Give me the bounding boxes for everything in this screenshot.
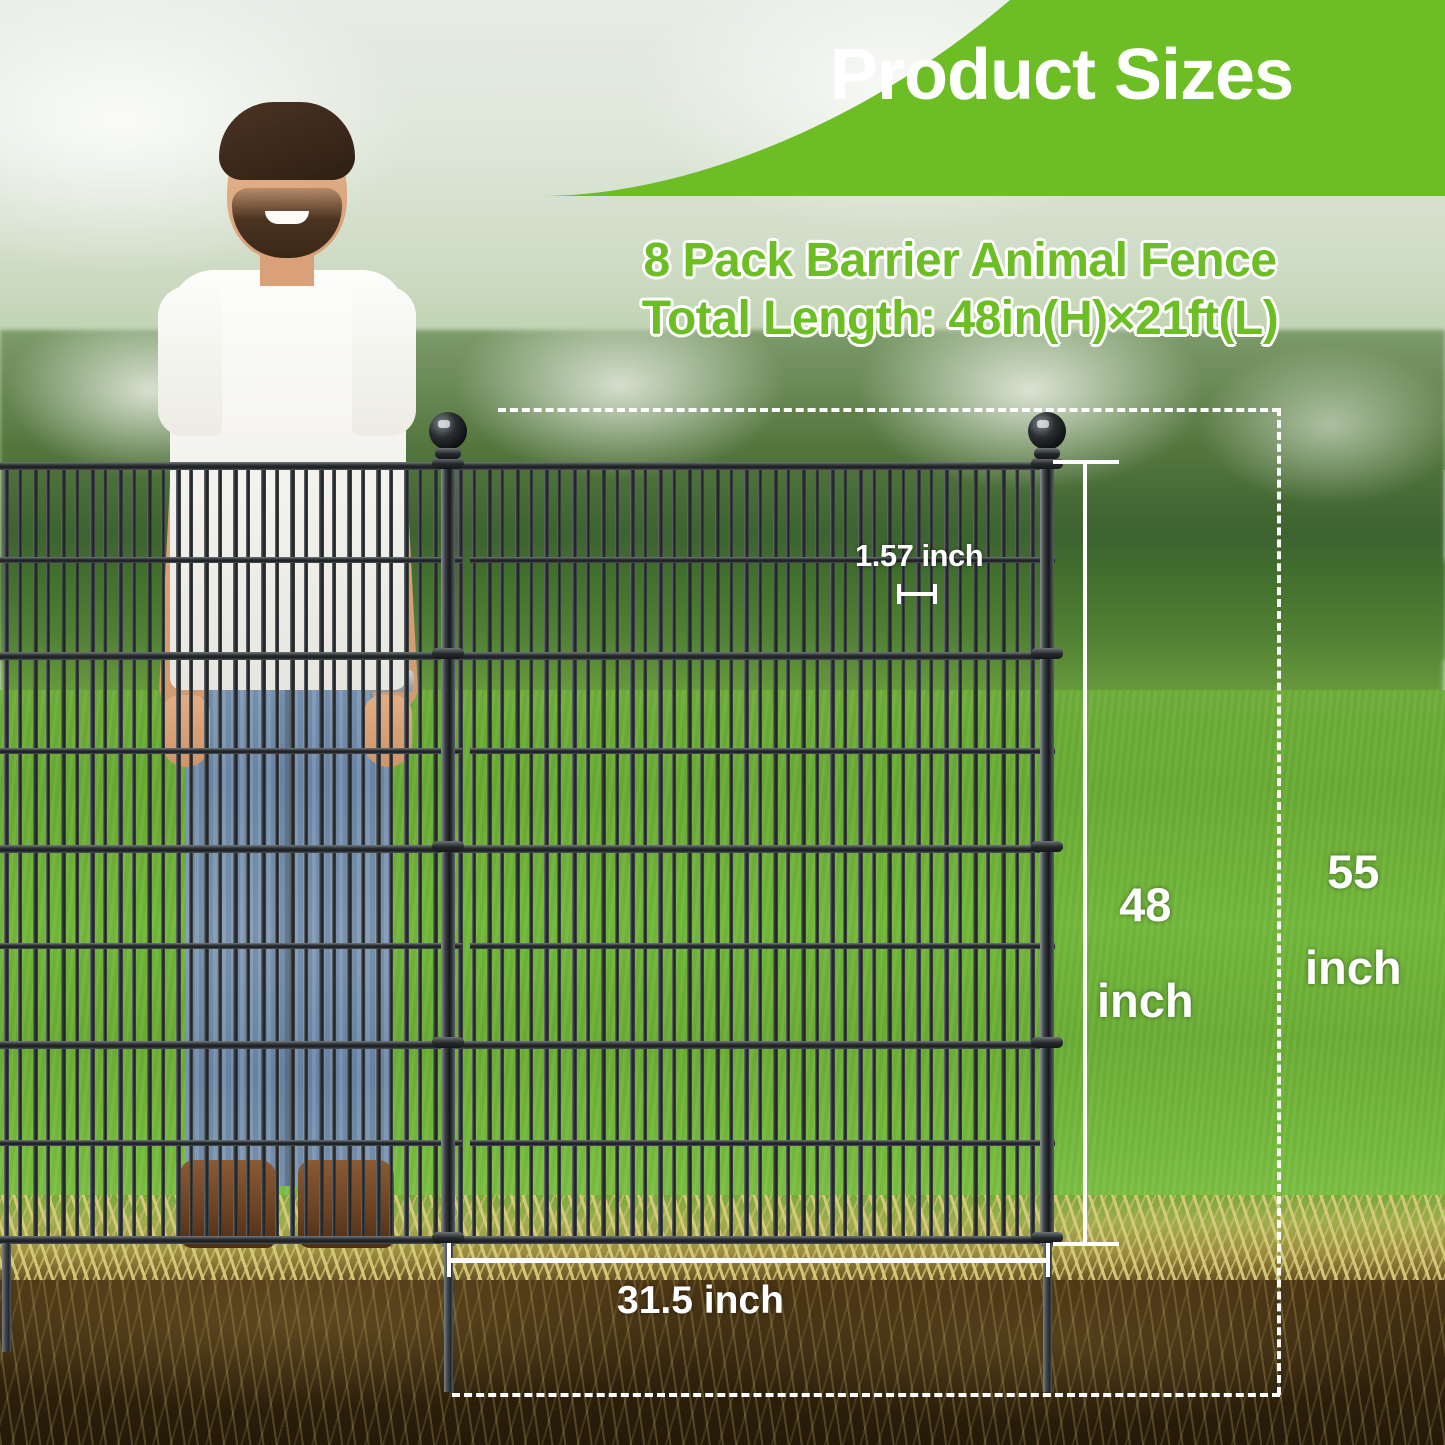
fence-vertical-bar xyxy=(586,468,590,1243)
post-collar xyxy=(1031,648,1063,659)
total-height-unit: inch xyxy=(1305,941,1402,994)
gap-left-tick xyxy=(897,584,901,604)
post-collar xyxy=(1031,841,1063,852)
panel-width-measure-line xyxy=(450,1258,1050,1263)
post-collar xyxy=(1031,1037,1063,1048)
fence-horizontal-rail-mid xyxy=(0,943,462,949)
total-height-measure-line xyxy=(1277,408,1281,1395)
panel-width-dimension-label: 31.5 inch xyxy=(617,1281,784,1321)
total-height-value: 55 xyxy=(1327,845,1379,898)
fence-vertical-bar xyxy=(75,468,79,1243)
fence-vertical-bar xyxy=(529,468,533,1243)
fence-vertical-bar xyxy=(332,468,336,1243)
fence-vertical-bar xyxy=(418,468,422,1243)
panel-height-value: 48 xyxy=(1119,878,1171,931)
post-cap-collar xyxy=(435,448,461,459)
fence-ground-stake xyxy=(2,1243,11,1352)
post-collar xyxy=(432,1037,464,1048)
fence-horizontal-rail-mid xyxy=(0,557,462,563)
fence-vertical-bar xyxy=(786,468,790,1243)
product-headline: 8 Pack Barrier Animal Fence Total Length… xyxy=(540,232,1380,347)
fence-vertical-bar xyxy=(46,468,50,1243)
page-title: Product Sizes xyxy=(830,34,1430,116)
fence-vertical-bar xyxy=(218,468,222,1243)
fence-vertical-bar xyxy=(472,468,476,1243)
fence-vertical-bar xyxy=(132,468,136,1243)
panel-width-left-tick xyxy=(447,1243,451,1277)
fence-vertical-bar xyxy=(729,468,733,1243)
fence-horizontal-rail-mid xyxy=(0,1140,462,1146)
fence-vertical-bar xyxy=(18,468,22,1243)
fence-vertical-bar xyxy=(986,468,990,1243)
total-height-dimension-label: 55 inch xyxy=(1305,800,1402,992)
panel-height-bottom-tick xyxy=(1053,1242,1119,1246)
post-collar xyxy=(432,458,464,469)
total-height-top-guide xyxy=(498,408,1280,412)
fence-vertical-bar xyxy=(672,468,676,1243)
fence-vertical-bar xyxy=(901,468,905,1243)
fence-vertical-bar xyxy=(246,468,250,1243)
panel-height-measure-line xyxy=(1083,462,1087,1244)
fence-horizontal-rail-mid xyxy=(470,748,1055,754)
product-infographic: 1.57 inch 48 inch 55 inch 31.5 inch Prod… xyxy=(0,0,1445,1445)
panel-height-dimension-label: 48 inch xyxy=(1097,833,1194,1025)
headline-line-2: Total Length: 48in(H)×21ft(L) xyxy=(540,290,1380,348)
fence-vertical-bar xyxy=(103,468,107,1243)
fence-vertical-bar xyxy=(958,468,962,1243)
fence-vertical-bar xyxy=(161,468,165,1243)
fence-vertical-bar xyxy=(872,468,876,1243)
post-cap-collar xyxy=(1034,448,1060,459)
fence-horizontal-rail xyxy=(0,845,1052,853)
fence-vertical-bar xyxy=(843,468,847,1243)
panel-height-unit: inch xyxy=(1097,974,1194,1027)
fence-vertical-bar xyxy=(557,468,561,1243)
post-collar xyxy=(432,648,464,659)
fence-vertical-bar xyxy=(758,468,762,1243)
fence-vertical-bar xyxy=(189,468,193,1243)
fence-horizontal-rail xyxy=(0,462,1052,470)
fence-horizontal-rail-mid xyxy=(0,748,462,754)
fence-vertical-bar xyxy=(700,468,704,1243)
panel-width-right-tick xyxy=(1046,1243,1050,1277)
headline-line-1: 8 Pack Barrier Animal Fence xyxy=(540,232,1380,290)
gap-dimension-label: 1.57 inch xyxy=(855,540,983,572)
fence-vertical-bar xyxy=(643,468,647,1243)
post-collar xyxy=(432,1232,464,1243)
post-collar xyxy=(432,841,464,852)
fence-vertical-bar xyxy=(304,468,308,1243)
fence-vertical-bar xyxy=(1015,468,1019,1243)
panel-height-top-tick xyxy=(1053,460,1119,464)
fence-horizontal-rail xyxy=(0,652,1052,660)
fence-horizontal-rail xyxy=(0,1041,1052,1049)
gap-measure-line xyxy=(898,592,936,596)
fence-vertical-bar xyxy=(361,468,365,1243)
gap-right-tick xyxy=(933,584,937,604)
fence-vertical-bar xyxy=(500,468,504,1243)
fence-assembly xyxy=(0,0,1445,1445)
post-ball-finial xyxy=(1028,412,1066,450)
total-height-bottom-guide xyxy=(452,1393,1280,1397)
fence-vertical-bar xyxy=(275,468,279,1243)
fence-vertical-bar xyxy=(615,468,619,1243)
fence-vertical-bar xyxy=(389,468,393,1243)
post-ball-finial xyxy=(429,412,467,450)
fence-horizontal-rail-mid xyxy=(470,943,1055,949)
fence-vertical-bar xyxy=(815,468,819,1243)
fence-horizontal-rail-mid xyxy=(505,1140,1055,1146)
fence-horizontal-rail xyxy=(0,1236,1052,1244)
